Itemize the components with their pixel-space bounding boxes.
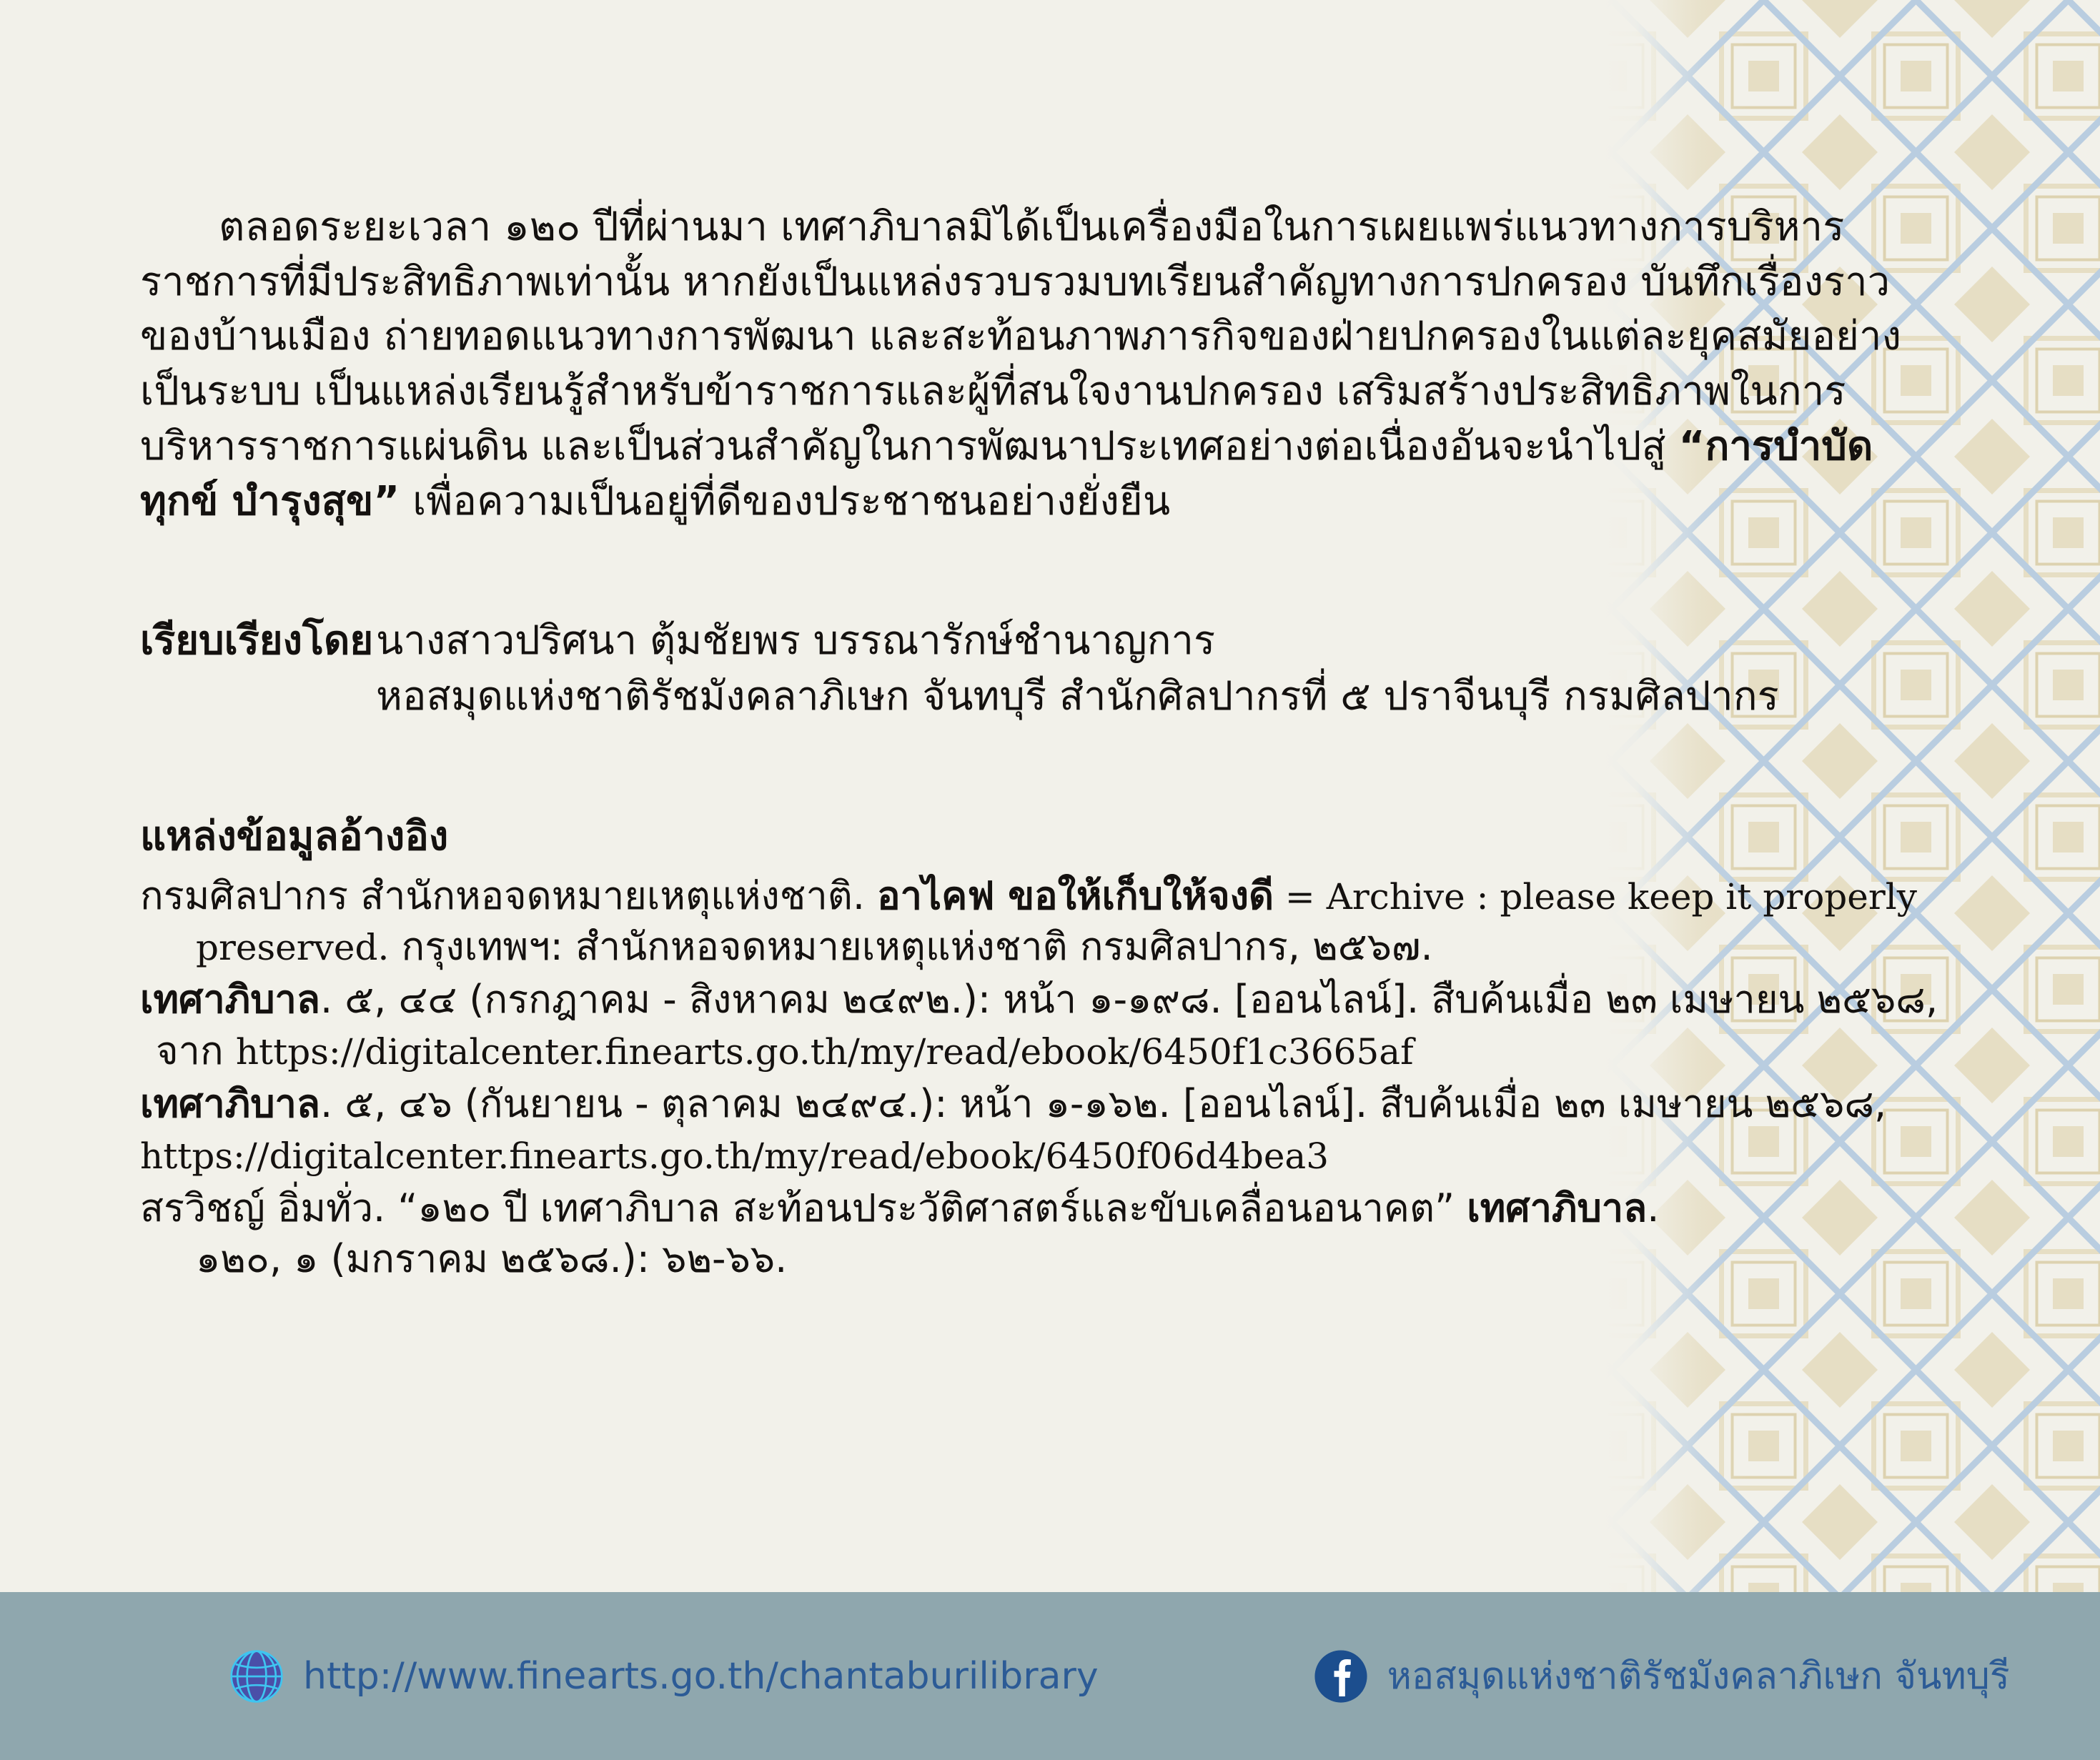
reference-journal-title: เทศาภิบาล — [140, 1081, 320, 1126]
reference-entry: สรวิชญ์ อิ่มทั่ว. “๑๒๐ ปี เทศาภิบาล สะท้… — [140, 1183, 1948, 1286]
footer-website-url[interactable]: http://www.finearts.go.th/chantaburilibr… — [303, 1658, 1099, 1695]
reference-line: เทศาภิบาล. ๕, ๔๖ (กันยายน - ตุลาคม ๒๔๙๔.… — [140, 1078, 1948, 1130]
reference-text-english: preserved. — [196, 927, 389, 968]
reference-url: https://digitalcenter.finearts.go.th/my/… — [140, 1135, 1329, 1177]
reference-text: กรุงเทพฯ: สำนักหอจดหมายเหตุแห่งชาติ กรมศ… — [389, 924, 1432, 969]
byline-label: เรียบเรียงโดย — [140, 613, 376, 668]
references-heading: แหล่งข้อมูลอ้างอิง — [140, 811, 1948, 863]
paragraph-text-before-quote: ตลอดระยะเวลา ๑๒๐ ปีที่ผ่านมา เทศาภิบาลมิ… — [140, 204, 1901, 469]
byline-author: นางสาวปริศนา ตุ้มชัยพร บรรณารักษ์ชำนาญกา… — [376, 613, 1948, 668]
reference-text: ๑๒๐, ๑ (มกราคม ๒๕๖๘.): ๖๒-๖๖. — [196, 1236, 787, 1281]
reference-text: . — [1647, 1185, 1659, 1230]
document-content: ตลอดระยะเวลา ๑๒๐ ปีที่ผ่านมา เทศาภิบาลมิ… — [140, 200, 1948, 1286]
reference-line: preserved. กรุงเทพฯ: สำนักหอจดหมายเหตุแห… — [140, 921, 1948, 973]
byline-section: เรียบเรียงโดย นางสาวปริศนา ตุ้มชัยพร บรร… — [140, 613, 1948, 724]
reference-title-thai: อาไคฟ ขอให้เก็บให้จงดี — [877, 873, 1274, 918]
references-section: แหล่งข้อมูลอ้างอิง กรมศิลปากร สำนักหอจดห… — [140, 811, 1948, 1285]
reference-title-english: = Archive : please keep it properly — [1274, 876, 1917, 918]
byline-row-affiliation: หอสมุดแห่งชาติรัชมังคลาภิเษก จันทบุรี สำ… — [140, 669, 1948, 724]
reference-entry: เทศาภิบาล. ๕, ๔๔ (กรกฎาคม - สิงหาคม ๒๔๙๒… — [140, 974, 1948, 1077]
reference-line: สรวิชญ์ อิ่มทั่ว. “๑๒๐ ปี เทศาภิบาล สะท้… — [140, 1183, 1948, 1234]
reference-text: . ๕, ๔๖ (กันยายน - ตุลาคม ๒๔๙๔.): หน้า ๑… — [320, 1081, 1886, 1126]
reference-line: https://digitalcenter.finearts.go.th/my/… — [140, 1130, 1948, 1181]
byline-row-primary: เรียบเรียงโดย นางสาวปริศนา ตุ้มชัยพร บรร… — [140, 613, 1948, 668]
footer-website-item[interactable]: http://www.finearts.go.th/chantaburilibr… — [229, 1649, 1099, 1704]
reference-line: จาก https://digitalcenter.finearts.go.th… — [140, 1025, 1948, 1077]
body-paragraph: ตลอดระยะเวลา ๑๒๐ ปีที่ผ่านมา เทศาภิบาลมิ… — [140, 200, 1948, 529]
reference-text: กรมศิลปากร สำนักหอจดหมายเหตุแห่งชาติ. — [140, 873, 877, 918]
reference-text: . ๕, ๔๔ (กรกฎาคม - สิงหาคม ๒๔๙๒.): หน้า … — [320, 977, 1938, 1022]
reference-entry: เทศาภิบาล. ๕, ๔๖ (กันยายน - ตุลาคม ๒๔๙๔.… — [140, 1078, 1948, 1181]
reference-line: กรมศิลปากร สำนักหอจดหมายเหตุแห่งชาติ. อา… — [140, 870, 1948, 922]
footer-bar: http://www.finearts.go.th/chantaburilibr… — [0, 1592, 2100, 1760]
reference-journal-title: เทศาภิบาล — [1467, 1185, 1647, 1230]
reference-url: https://digitalcenter.finearts.go.th/my/… — [236, 1031, 1414, 1073]
footer-facebook-page[interactable]: หอสมุดแห่งชาติรัชมังคลาภิเษก จันทบุรี — [1387, 1658, 2010, 1695]
byline-affiliation: หอสมุดแห่งชาติรัชมังคลาภิเษก จันทบุรี สำ… — [376, 669, 1948, 724]
paragraph-text-after-quote: เพื่อความเป็นอยู่ที่ดีของประชาชนอย่างยั่… — [400, 478, 1170, 524]
footer-facebook-item[interactable]: หอสมุดแห่งชาติรัชมังคลาภิเษก จันทบุรี — [1313, 1649, 2010, 1704]
reference-text: สรวิชญ์ อิ่มทั่ว. “๑๒๐ ปี เทศาภิบาล สะท้… — [140, 1185, 1467, 1230]
facebook-icon — [1313, 1649, 1369, 1704]
reference-line: เทศาภิบาล. ๕, ๔๔ (กรกฎาคม - สิงหาคม ๒๔๙๒… — [140, 974, 1948, 1025]
reference-text: จาก — [156, 1028, 236, 1073]
reference-line: ๑๒๐, ๑ (มกราคม ๒๕๖๘.): ๖๒-๖๖. — [140, 1233, 1948, 1285]
globe-icon — [229, 1649, 284, 1704]
reference-entry: กรมศิลปากร สำนักหอจดหมายเหตุแห่งชาติ. อา… — [140, 870, 1948, 973]
reference-journal-title: เทศาภิบาล — [140, 977, 320, 1022]
